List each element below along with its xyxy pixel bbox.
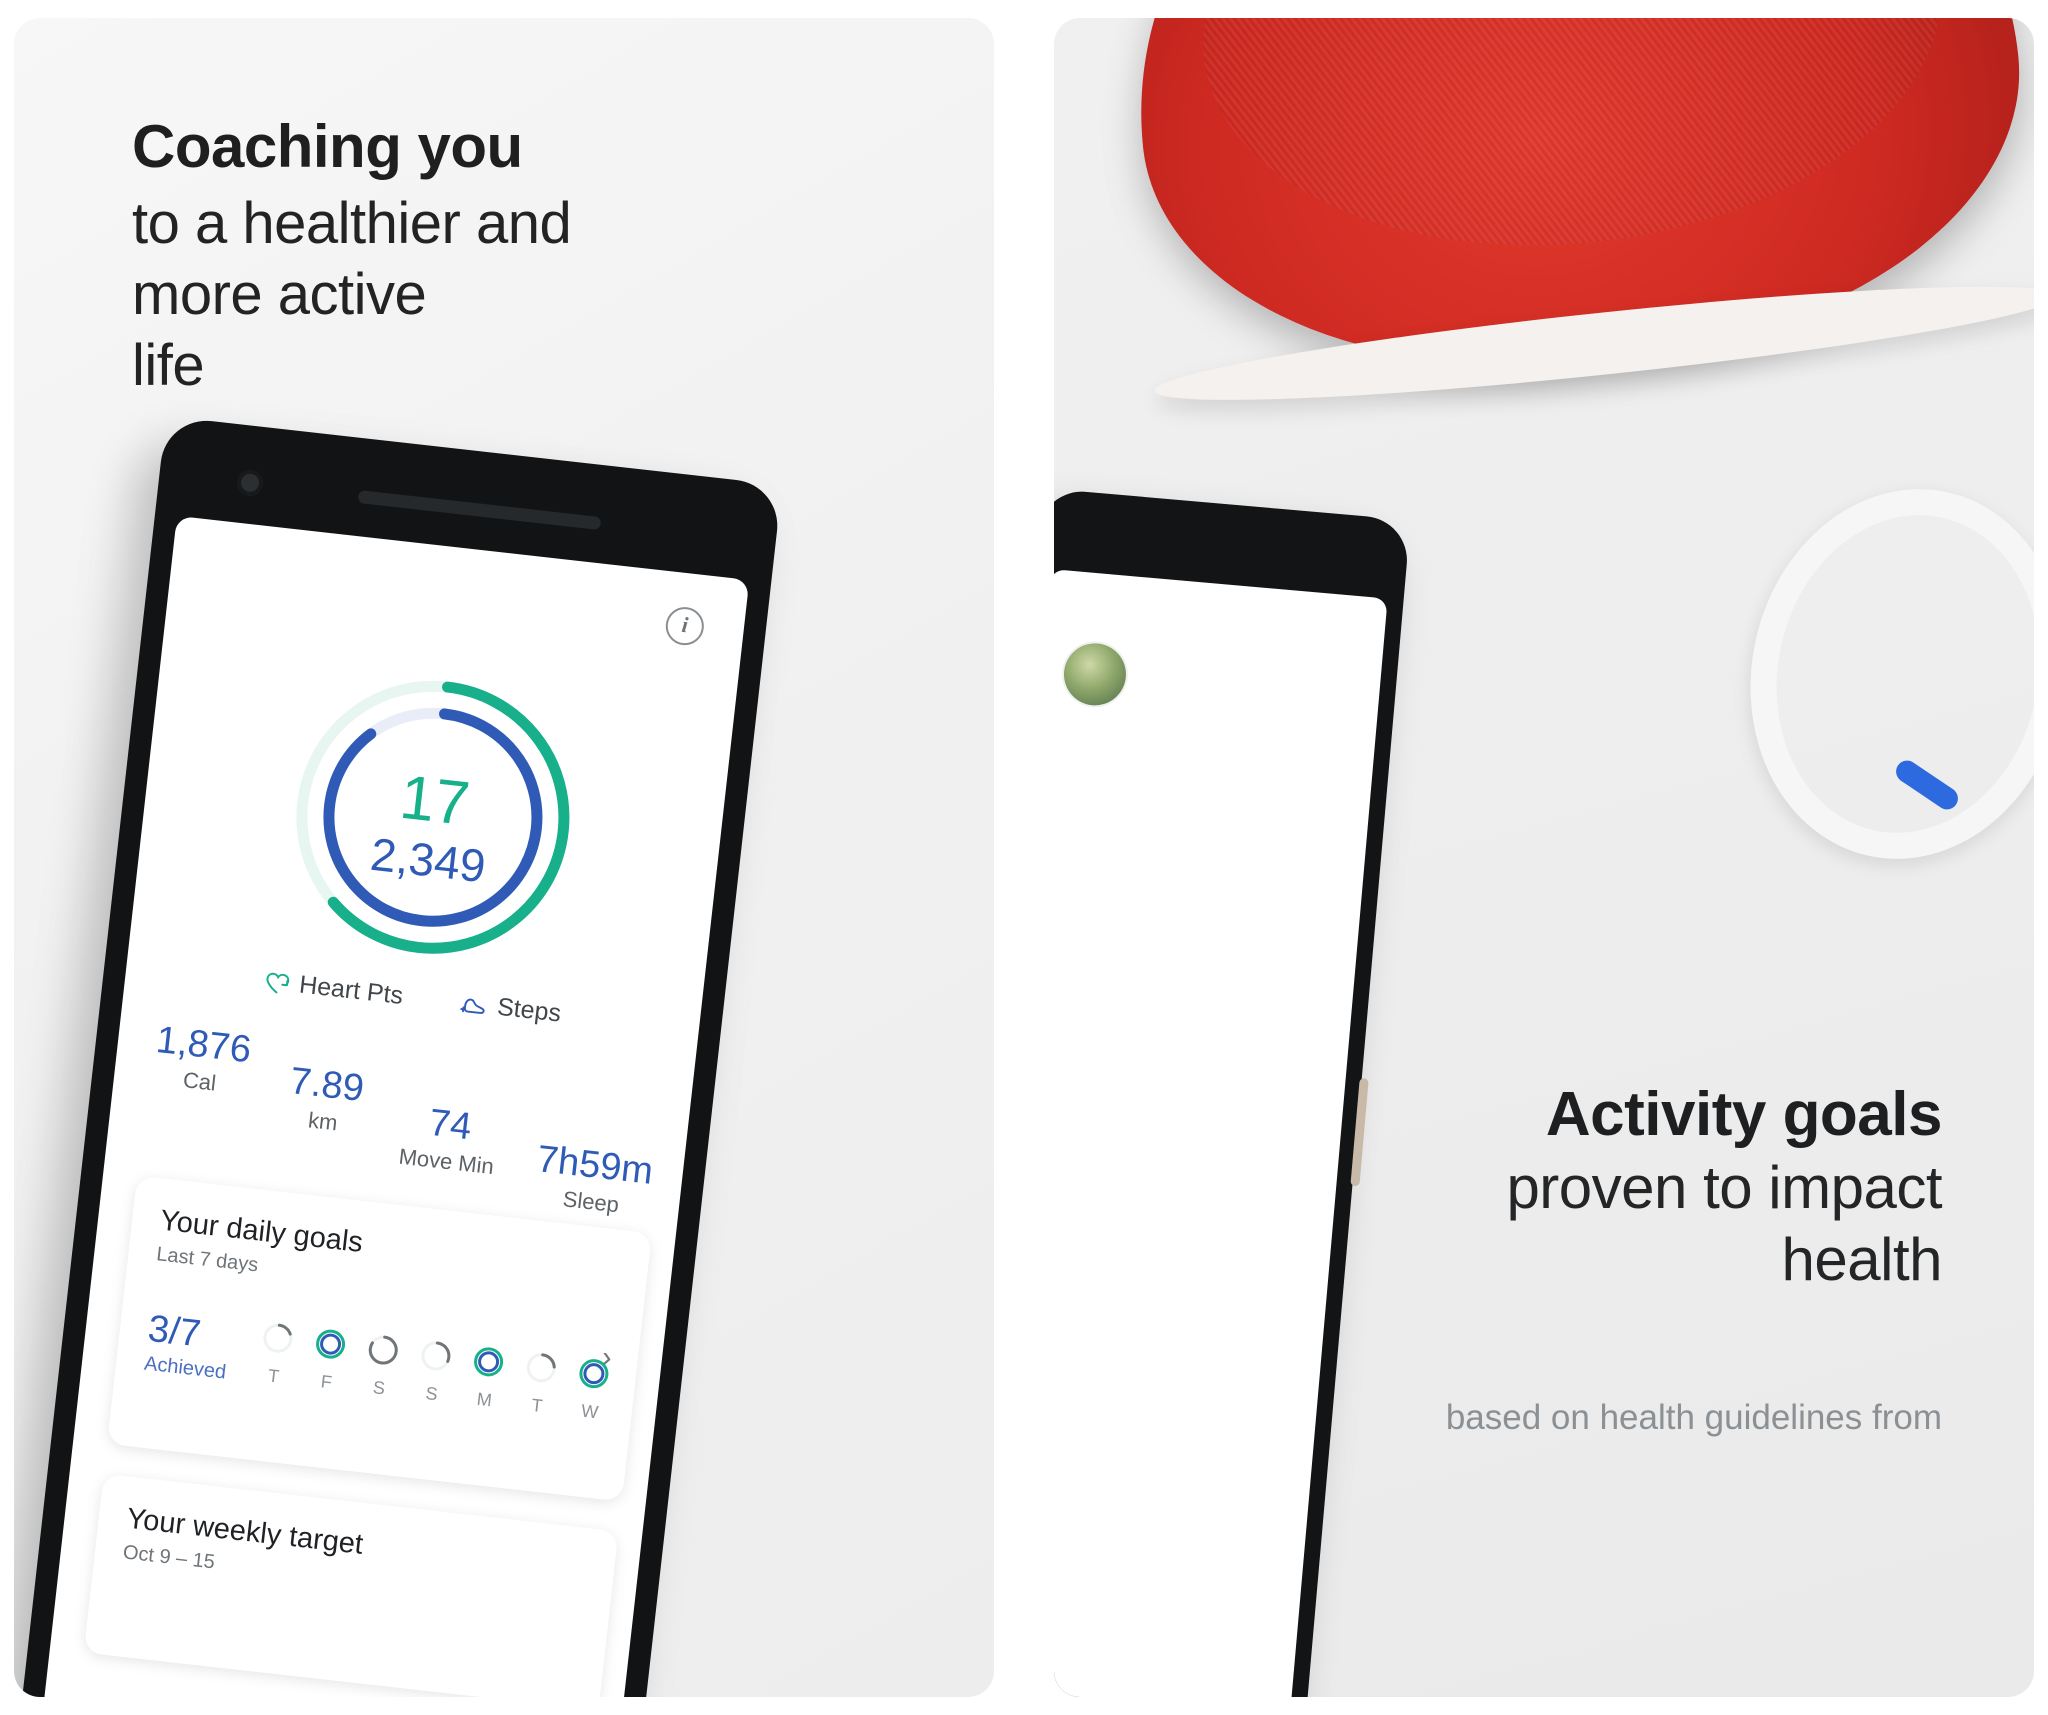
day-goal-ring[interactable]: T [253,1318,300,1389]
right-headline-line-2: proven to impact [1054,1152,1942,1224]
day-goal-ring[interactable]: S [411,1336,458,1407]
day-goal-ring[interactable]: W [569,1354,616,1425]
metric-distance-unit: km [285,1105,361,1139]
metric-sleep[interactable]: 7h59m Sleep [532,1140,655,1221]
goal-ring-icon [521,1348,561,1388]
day-label: F [305,1370,347,1395]
metric-distance[interactable]: 7.89 km [285,1062,366,1139]
phone-device-primary: i 17 2,349 [14,416,782,1697]
headline-line-2: to a healthier and [132,189,571,260]
day-label: S [411,1382,453,1407]
heart-pts-icon [263,969,292,996]
day-label: T [516,1393,558,1418]
goal-ring-icon [311,1324,351,1364]
metric-move-min[interactable]: 74 Move Min [397,1101,499,1180]
info-icon[interactable]: i [664,605,706,647]
running-shoe-photo [1103,18,2034,402]
day-goal-ring[interactable]: S [358,1330,405,1401]
legend-label-steps: Steps [496,993,563,1029]
legend-item-steps: Steps [459,989,563,1029]
right-headline-line-1: Activity goals [1054,1078,1942,1152]
right-headline: Activity goals proven to impact health [1054,1078,1942,1296]
right-promo-card: 17 Heart Pts 2,349 Steps Activity goals [1054,18,2034,1697]
day-goal-ring[interactable]: F [305,1324,352,1395]
goal-ring-icon [363,1330,403,1370]
headline-line-4: life [132,331,571,402]
daily-goals-day-strip: TFSSMTW [253,1318,616,1424]
legend-item-heart-pts: Heart Pts [263,967,405,1011]
daily-goals-achieved: 3/7 Achieved [143,1310,232,1385]
attribution-text: based on health guidelines from [1054,1398,1942,1438]
weekly-target-card[interactable]: Your weekly target Oct 9 – 15 [84,1474,619,1697]
day-label: T [253,1364,295,1389]
screenshot-gallery: Coaching you to a healthier and more act… [0,0,2048,1715]
activity-rings[interactable]: 17 2,349 [275,659,591,975]
day-goal-ring[interactable]: T [516,1348,563,1419]
metric-move-min-value: 74 [401,1101,500,1151]
metric-calories-value: 1,876 [154,1021,253,1071]
left-promo-card: Coaching you to a healthier and more act… [14,18,994,1697]
front-camera-icon [236,468,265,497]
headline-line-1: Coaching you [132,110,571,183]
day-label: W [569,1399,611,1424]
legend-label-heart-pts: Heart Pts [298,970,405,1010]
achieved-label: Achieved [143,1353,227,1385]
goal-ring-icon [574,1354,614,1394]
goal-ring-icon [416,1336,456,1376]
avatar[interactable] [1061,641,1128,708]
left-headline: Coaching you to a healthier and more act… [132,110,571,401]
right-headline-line-3: health [1054,1224,1942,1296]
steps-shoe-icon [459,992,489,1017]
achieved-count: 3/7 [146,1310,232,1357]
goal-ring-icon [258,1318,298,1358]
day-label: M [463,1387,505,1412]
metric-calories[interactable]: 1,876 Cal [151,1021,253,1100]
metric-distance-value: 7.89 [288,1062,366,1110]
daily-goals-card[interactable]: Your daily goals Last 7 days › 3/7 Achie… [107,1176,652,1502]
shoe-texture [1181,18,1963,280]
headline-line-3: more active [132,260,571,331]
headphone-cord-photo [1717,460,2034,889]
goal-ring-icon [469,1342,509,1382]
phone-screen-primary: i 17 2,349 [35,516,749,1697]
day-label: S [358,1376,400,1401]
day-goal-ring[interactable]: M [463,1342,510,1413]
